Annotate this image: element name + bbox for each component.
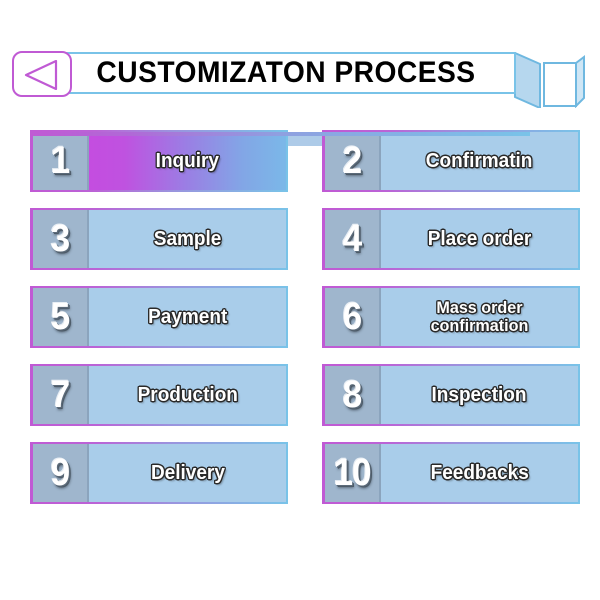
step-row: 3 Sample 4 Place order [30,208,580,270]
step-label: Production [137,385,237,406]
step-label-cell: Feedbacks [381,444,578,502]
step-number: 6 [343,298,362,336]
step-number-cell: 10 [325,444,381,502]
step-label-cell: Payment [89,288,286,346]
header-banner: CUSTOMIZATON PROCESS [0,40,600,108]
step-number: 4 [343,220,362,258]
step-number-cell: 1 [33,132,89,190]
step-number: 8 [343,376,362,414]
step-item-10[interactable]: 10 Feedbacks [322,442,580,504]
step-number-cell: 5 [33,288,89,346]
step-number-cell: 4 [325,210,381,268]
step-label: Inspection [432,385,527,406]
step-item-9[interactable]: 9 Delivery [30,442,288,504]
step-number-cell: 3 [33,210,89,268]
step-item-3[interactable]: 3 Sample [30,208,288,270]
step-row: 7 Production 8 Inspection [30,364,580,426]
step-number-cell: 8 [325,366,381,424]
page-title: CUSTOMIZATON PROCESS [70,52,502,94]
step-label-cell: Inspection [381,366,578,424]
step-label-cell: Sample [89,210,286,268]
step-item-7[interactable]: 7 Production [30,364,288,426]
step-label-cell: Production [89,366,286,424]
step-label-cell: Mass order confirmation [381,288,578,346]
step-label: Feedbacks [430,463,528,484]
step-label-cell: Confirmatin [381,132,578,190]
step-label-cell: Delivery [89,444,286,502]
step-label-cell: Place order [381,210,578,268]
step-label: Mass order confirmation [431,299,529,335]
step-label: Place order [428,229,532,250]
step-label: Confirmatin [426,151,533,172]
step-label: Payment [148,307,227,328]
step-item-8[interactable]: 8 Inspection [322,364,580,426]
step-number: 5 [51,298,70,336]
step-item-1[interactable]: 1 Inquiry [30,130,288,192]
banner-underline [30,132,530,136]
step-number-cell: 9 [33,444,89,502]
step-row: 9 Delivery 10 Feedbacks [30,442,580,504]
step-label: Sample [154,229,222,250]
process-steps-grid: 1 Inquiry 2 Confirmatin 3 Sample [30,130,580,510]
banner-cap-3d-icon [514,52,586,108]
step-row: 5 Payment 6 Mass order confirmation [30,286,580,348]
step-number: 9 [51,454,70,492]
step-number: 2 [343,142,362,180]
step-number: 3 [51,220,70,258]
step-row: 1 Inquiry 2 Confirmatin [30,130,580,192]
step-number-cell: 6 [325,288,381,346]
step-label: Delivery [151,463,225,484]
step-number: 7 [51,376,70,414]
step-item-6[interactable]: 6 Mass order confirmation [322,286,580,348]
step-item-2[interactable]: 2 Confirmatin [322,130,580,192]
step-number-cell: 2 [325,132,381,190]
step-number: 1 [51,142,70,180]
step-item-4[interactable]: 4 Place order [322,208,580,270]
step-number-cell: 7 [33,366,89,424]
step-number: 10 [333,454,370,492]
step-label-cell: Inquiry [89,132,286,190]
step-item-5[interactable]: 5 Payment [30,286,288,348]
step-label: Inquiry [156,151,219,172]
